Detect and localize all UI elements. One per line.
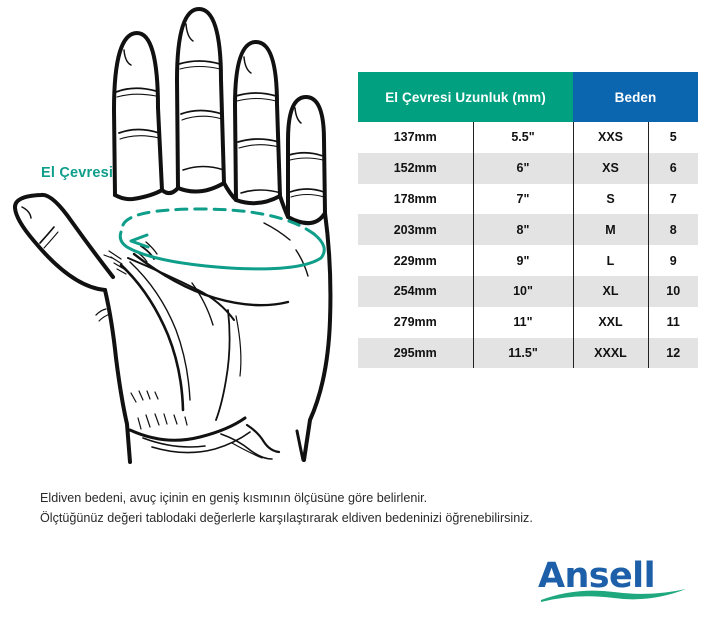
cell-size: L [573,245,648,276]
cell-mm: 152mm [358,153,473,184]
cell-num: 9 [648,245,698,276]
cell-inch: 8" [473,214,573,245]
cell-inch: 6" [473,153,573,184]
cell-num: 8 [648,214,698,245]
cell-size: XXS [573,122,648,153]
table-row: 279mm 11" XXL 11 [358,307,698,338]
cell-num: 7 [648,184,698,215]
table-header-row: El Çevresi Uzunluk (mm) Beden [358,72,698,122]
cell-mm: 203mm [358,214,473,245]
table-row: 152mm 6" XS 6 [358,153,698,184]
cell-inch: 5.5" [473,122,573,153]
hand-diagram-svg [0,0,350,482]
cell-mm: 295mm [358,338,473,369]
glove-size-table: El Çevresi Uzunluk (mm) Beden 137mm 5.5"… [358,72,698,368]
cell-mm: 178mm [358,184,473,215]
cell-inch: 7" [473,184,573,215]
cell-num: 5 [648,122,698,153]
header-size: Beden [573,72,698,122]
cell-mm: 137mm [358,122,473,153]
cell-size: S [573,184,648,215]
table-row: 254mm 10" XL 10 [358,276,698,307]
table-header: El Çevresi Uzunluk (mm) Beden [358,72,698,122]
instruction-line-1: Eldiven bedeni, avuç içinin en geniş kıs… [40,488,670,508]
cell-inch: 9" [473,245,573,276]
hand-illustration: El Çevresi [0,0,350,482]
instruction-note: Eldiven bedeni, avuç içinin en geniş kıs… [40,488,670,528]
table-row: 178mm 7" S 7 [358,184,698,215]
ansell-logo: Ansell [538,556,690,604]
cell-num: 6 [648,153,698,184]
instruction-line-2: Ölçtüğünüz değeri tablodaki değerlerle k… [40,508,670,528]
header-circumference: El Çevresi Uzunluk (mm) [358,72,573,122]
table-row: 137mm 5.5" XXS 5 [358,122,698,153]
cell-num: 11 [648,307,698,338]
table-row: 229mm 9" L 9 [358,245,698,276]
table-row: 203mm 8" M 8 [358,214,698,245]
cell-size: M [573,214,648,245]
cell-inch: 10" [473,276,573,307]
cell-num: 10 [648,276,698,307]
cell-num: 12 [648,338,698,369]
table-row: 295mm 11.5" XXXL 12 [358,338,698,369]
cell-mm: 254mm [358,276,473,307]
cell-mm: 279mm [358,307,473,338]
cell-mm: 229mm [358,245,473,276]
cell-size: XXXL [573,338,648,369]
cell-inch: 11" [473,307,573,338]
table-body: 137mm 5.5" XXS 5 152mm 6" XS 6 178mm 7" … [358,122,698,368]
cell-inch: 11.5" [473,338,573,369]
cell-size: XL [573,276,648,307]
ansell-swoosh-icon [538,586,690,604]
cell-size: XS [573,153,648,184]
cell-size: XXL [573,307,648,338]
hand-circumference-label: El Çevresi [41,165,113,181]
